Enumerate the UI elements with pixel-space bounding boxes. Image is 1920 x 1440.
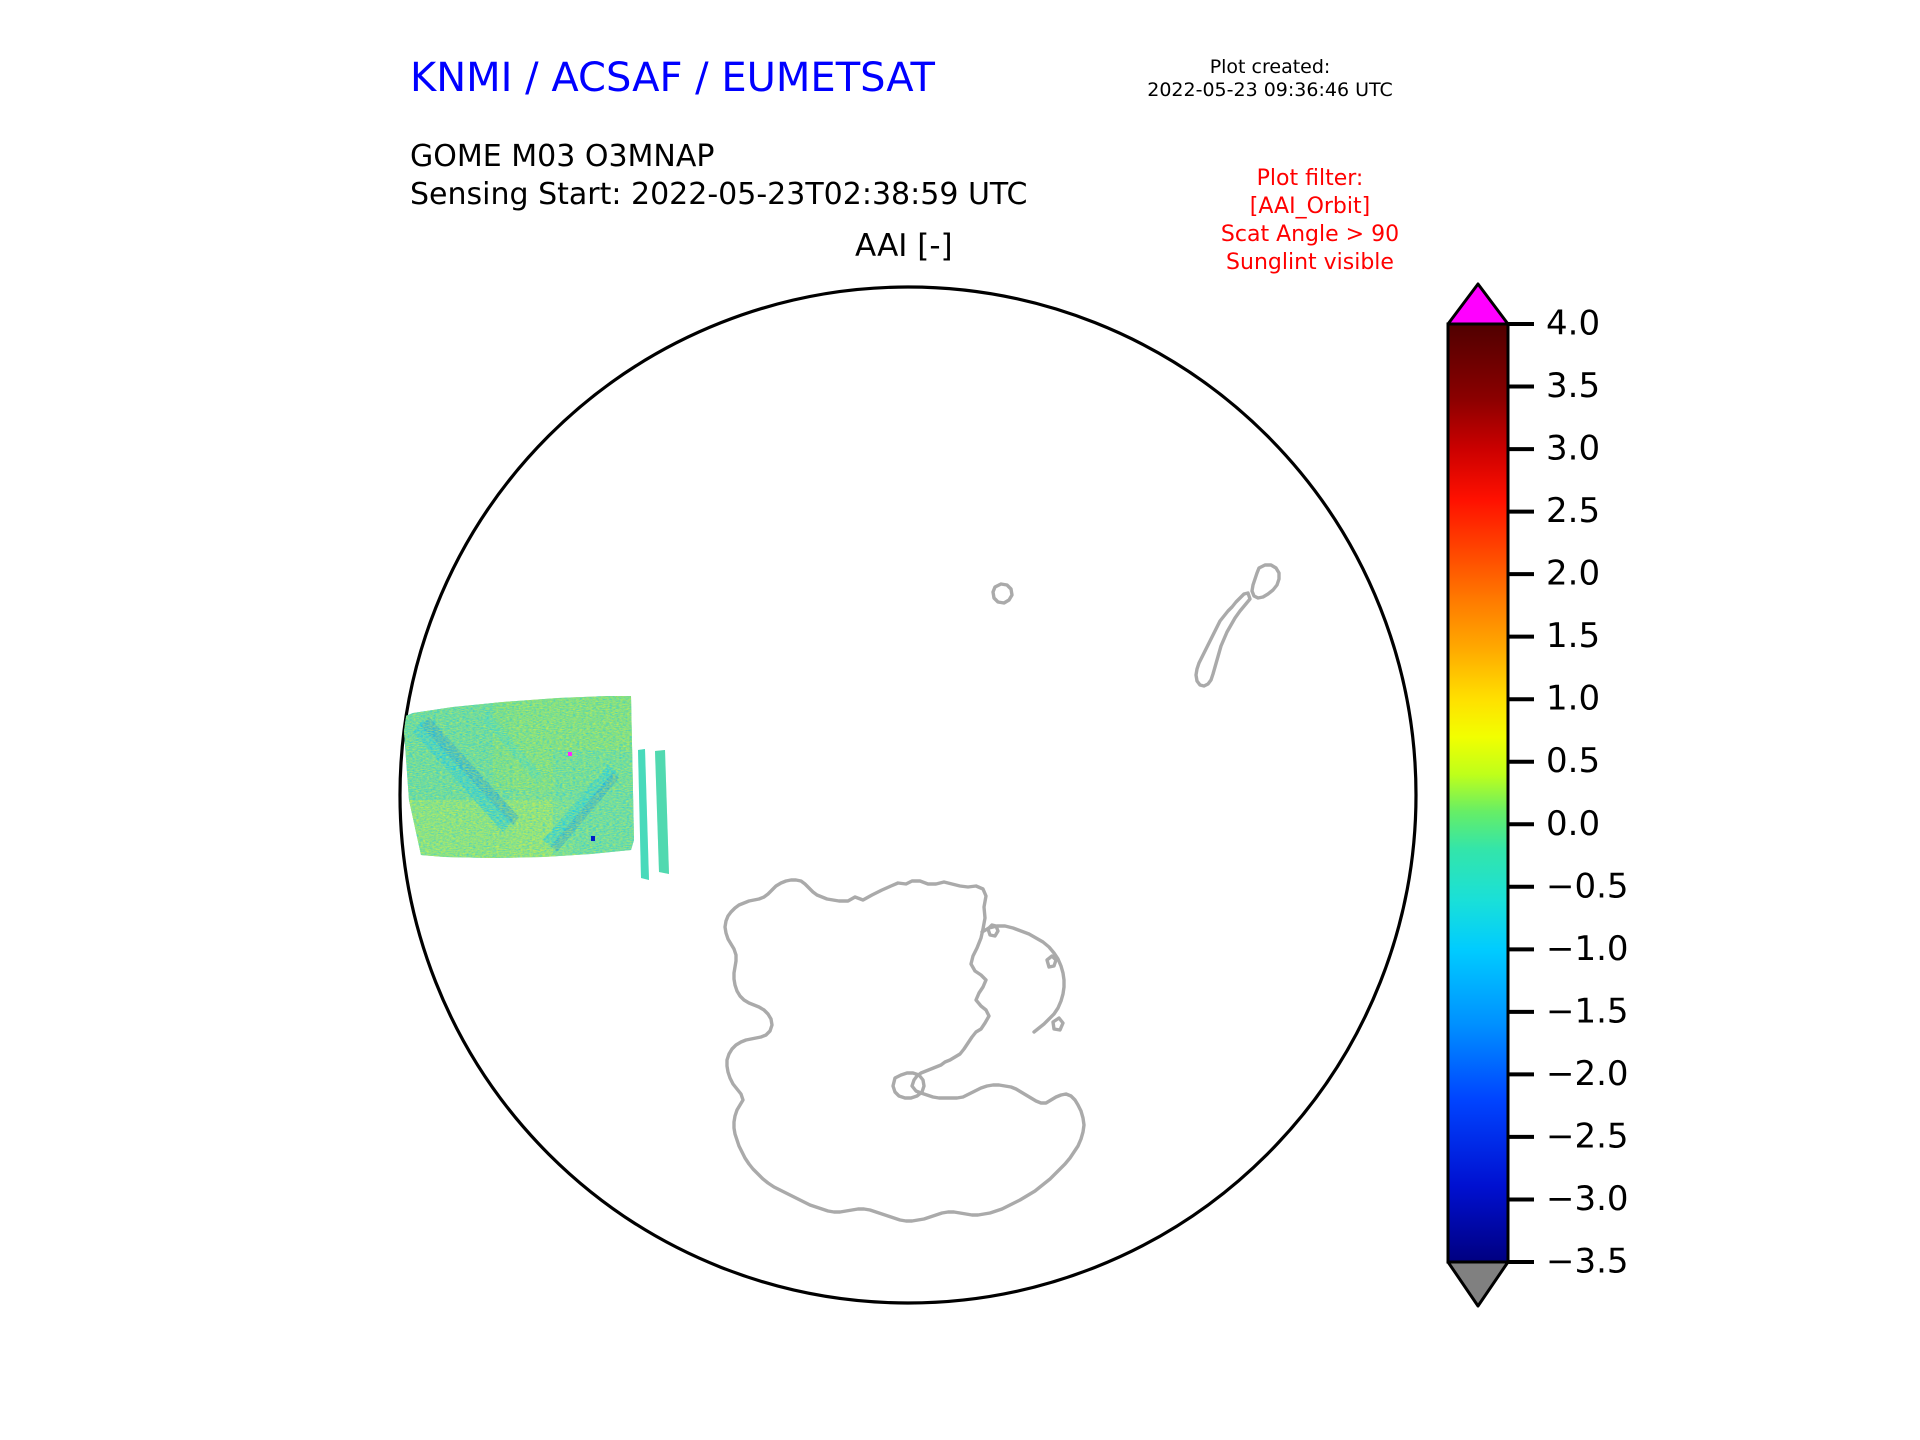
colorbar-tick-label: 0.0	[1546, 804, 1600, 844]
quantity-title: AAI [-]	[855, 228, 953, 264]
plot-filter-name: [AAI_Orbit]	[1140, 193, 1480, 221]
product-name: GOME M03 O3MNAP	[410, 138, 1027, 176]
product-info-block: GOME M03 O3MNAP Sensing Start: 2022-05-2…	[410, 138, 1027, 213]
colorbar-ticks: 4.03.53.02.52.01.51.00.50.0−0.5−1.0−1.5−…	[1508, 304, 1629, 1282]
colorbar-svg: 4.03.53.02.52.01.51.00.50.0−0.5−1.0−1.5−…	[1430, 280, 1760, 1340]
falkland-islands	[1398, 1221, 1413, 1237]
colorbar-gradient-bar	[1448, 324, 1508, 1262]
plot-created-block: Plot created: 2022-05-23 09:36:46 UTC	[1110, 56, 1430, 102]
map-svg	[393, 280, 1423, 1310]
colorbar-tick-label: 1.5	[1546, 616, 1600, 656]
colorbar-tick-label: 2.5	[1546, 491, 1600, 531]
plot-filter-sunglint: Sunglint visible	[1140, 249, 1480, 277]
colorbar-tick-label: −2.0	[1546, 1054, 1629, 1094]
colorbar-tick-label: 0.5	[1546, 741, 1600, 781]
colorbar-tick-label: −1.5	[1546, 991, 1629, 1031]
plot-filter-block: Plot filter: [AAI_Orbit] Scat Angle > 90…	[1140, 165, 1480, 277]
sensing-start: Sensing Start: 2022-05-23T02:38:59 UTC	[410, 176, 1027, 214]
colorbar-tick-label: −0.5	[1546, 866, 1629, 906]
polar-map	[393, 280, 1423, 1310]
colorbar-tick-label: −3.5	[1546, 1242, 1629, 1282]
colorbar-tick-label: −2.5	[1546, 1116, 1629, 1156]
plot-created-timestamp: 2022-05-23 09:36:46 UTC	[1110, 79, 1430, 102]
figure-canvas: KNMI / ACSAF / EUMETSAT Plot created: 20…	[0, 0, 1920, 1440]
colorbar-tick-label: −1.0	[1546, 929, 1629, 969]
colorbar: 4.03.53.02.52.01.51.00.50.0−0.5−1.0−1.5−…	[1430, 280, 1760, 1340]
colorbar-tick-label: 1.0	[1546, 679, 1600, 719]
colorbar-tick-label: 3.0	[1546, 429, 1600, 469]
plot-filter-scat: Scat Angle > 90	[1140, 221, 1480, 249]
plot-created-label: Plot created:	[1110, 56, 1430, 79]
colorbar-over-arrow	[1448, 284, 1508, 324]
south-america-tip	[1369, 1148, 1423, 1278]
colorbar-tick-label: 2.0	[1546, 554, 1600, 594]
colorbar-tick-label: 4.0	[1546, 304, 1600, 344]
colorbar-tick-label: 3.5	[1546, 366, 1600, 406]
plot-filter-label: Plot filter:	[1140, 165, 1480, 193]
colorbar-under-arrow	[1448, 1262, 1508, 1306]
colorbar-tick-label: −3.0	[1546, 1179, 1629, 1219]
organisation-title: KNMI / ACSAF / EUMETSAT	[410, 55, 935, 101]
